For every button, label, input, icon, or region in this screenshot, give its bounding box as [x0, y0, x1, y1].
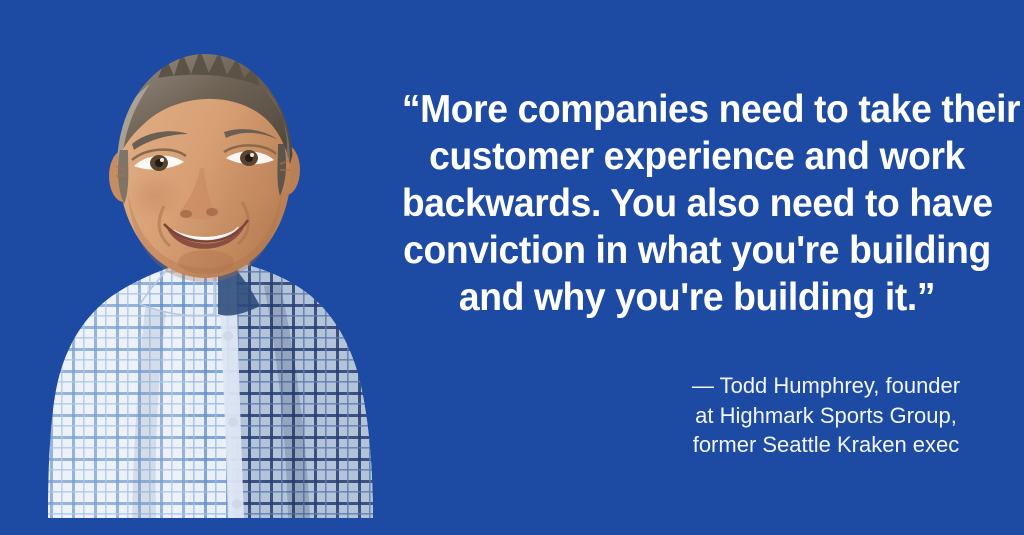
- quote-line-2: customer experience and work: [402, 133, 992, 180]
- quote-line-3: backwards. You also need to have: [402, 180, 992, 227]
- portrait-photo: [28, 18, 388, 518]
- portrait-illustration: [28, 18, 388, 518]
- chin-shadow: [178, 250, 234, 274]
- quote-text: “More companies need to take their custo…: [388, 86, 1006, 321]
- quote-line-5: and why you're building it.”: [402, 274, 992, 321]
- quote-card: “More companies need to take their custo…: [0, 0, 1024, 535]
- attribution-line-3: former Seattle Kraken exec: [650, 430, 1002, 460]
- attribution: — Todd Humphrey, founder at Highmark Spo…: [650, 371, 1002, 460]
- quote-line-1: “More companies need to take their: [402, 86, 992, 133]
- quote-line-4: conviction in what you're building: [402, 227, 992, 274]
- attribution-line-2: at Highmark Sports Group,: [650, 401, 1002, 431]
- attribution-line-1: — Todd Humphrey, founder: [650, 371, 1002, 401]
